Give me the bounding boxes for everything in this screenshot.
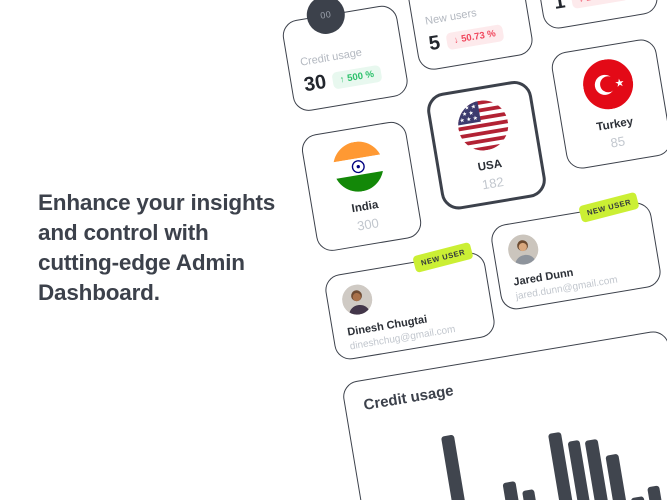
country-name: Turkey [596, 115, 634, 133]
stat-card-new-orders[interactable]: New orders 1 ↓ 20.52 % [530, 0, 660, 31]
bar [631, 496, 649, 500]
status-badge: NEW USER [412, 242, 474, 273]
stat-card-credit-usage[interactable]: 00 Credit usage 30 ↑ 500 % [280, 3, 410, 113]
bar [522, 489, 545, 500]
country-value: 85 [609, 133, 626, 150]
india-flag-icon [329, 137, 387, 195]
chart-card-credit-usage[interactable]: Credit usage [341, 329, 667, 500]
bar-chart [371, 400, 667, 500]
status-badge-label: 500 % [346, 69, 374, 84]
country-value: 300 [356, 215, 380, 233]
bar [647, 486, 667, 500]
chart-title: Credit usage [362, 349, 653, 414]
avatar-label: 00 [320, 9, 333, 21]
country-card-usa[interactable]: ★★★ ★★ ★★★ USA 182 [424, 78, 548, 212]
stat-row: 1 ↓ 20.52 % [552, 0, 645, 15]
stat-value: 5 [427, 32, 442, 57]
country-value: 182 [481, 173, 505, 191]
arrow-up-icon: ↑ [339, 75, 345, 85]
bar [606, 454, 632, 500]
user-card-dinesh[interactable]: NEW USER Dinesh Chugtai dineshchug@gmail… [323, 250, 497, 362]
status-badge-label: 50.73 % [460, 28, 496, 45]
status-badge-label: 20.52 % [585, 0, 621, 4]
user-card-jared[interactable]: NEW USER Jared Dunn jared.dunn@gmail.com [489, 200, 663, 312]
arrow-down-icon: ↓ [453, 35, 459, 45]
page-title: Enhance your insights and control with c… [38, 188, 288, 308]
dashboard-hero-screenshot: Enhance your insights and control with c… [0, 0, 667, 500]
stat-value: 1 [552, 0, 567, 15]
stat-value: 30 [302, 71, 328, 97]
country-card-turkey[interactable]: ★ Turkey 85 [549, 37, 667, 171]
status-badge: NEW USER [578, 192, 640, 223]
status-badge: ↑ 500 % [332, 65, 383, 90]
country-name: USA [477, 157, 503, 173]
bar [441, 435, 475, 500]
status-badge: ↓ 20.52 % [571, 0, 629, 9]
avatar [340, 282, 375, 317]
stat-card-new-users[interactable]: New users 5 ↓ 50.73 % [405, 0, 535, 72]
hero-copy: Enhance your insights and control with c… [38, 188, 288, 308]
turkey-flag-icon: ★ [579, 55, 637, 113]
arrow-down-icon: ↓ [578, 0, 584, 4]
usa-flag-icon: ★★★ ★★ ★★★ [454, 96, 512, 154]
country-card-india[interactable]: India 300 [300, 119, 424, 253]
avatar [506, 232, 541, 267]
status-badge: ↓ 50.73 % [446, 24, 504, 50]
dashboard-collage: 00 Credit usage 30 ↑ 500 % New users 5 ↓… [252, 0, 667, 500]
country-name: India [351, 198, 379, 214]
avatar: 00 [304, 0, 348, 37]
